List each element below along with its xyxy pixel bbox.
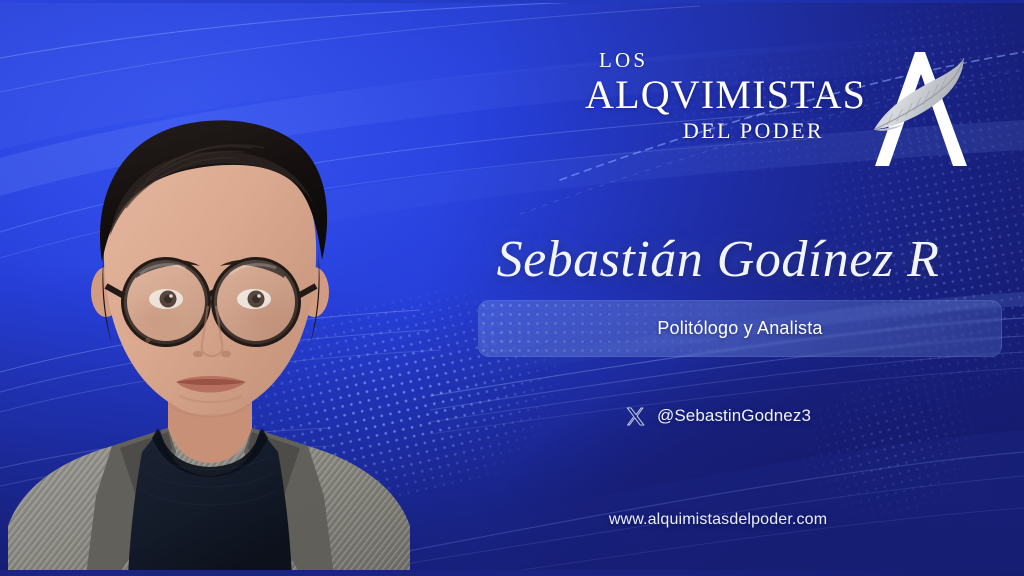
promo-card: LOS ALQVIMISTAS DEL PODER xyxy=(0,0,1024,576)
x-twitter-icon xyxy=(625,406,646,427)
social-handle[interactable]: @SebastinGodnez3 xyxy=(657,406,811,426)
monogram-a-icon xyxy=(855,38,985,178)
speaker-role: Politólogo y Analista xyxy=(657,318,822,339)
brand-logo: LOS ALQVIMISTAS DEL PODER xyxy=(585,42,985,177)
brand-line-los: LOS xyxy=(599,50,830,71)
top-accent-strip xyxy=(0,0,1024,3)
speaker-photo xyxy=(0,56,420,576)
bottom-accent-strip xyxy=(0,570,1024,576)
social-handle-row[interactable]: @SebastinGodnez3 xyxy=(430,400,1006,432)
speaker-name: Sebastián Godínez R xyxy=(430,224,1006,294)
brand-line-del-poder: DEL PODER xyxy=(585,120,824,142)
website-url[interactable]: www.alquimistasdelpoder.com xyxy=(430,506,1006,534)
role-banner: Politólogo y Analista xyxy=(478,300,1002,357)
brand-line-alquimistas: ALQVIMISTAS xyxy=(585,75,830,115)
brand-logo-text: LOS ALQVIMISTAS DEL PODER xyxy=(585,50,830,142)
